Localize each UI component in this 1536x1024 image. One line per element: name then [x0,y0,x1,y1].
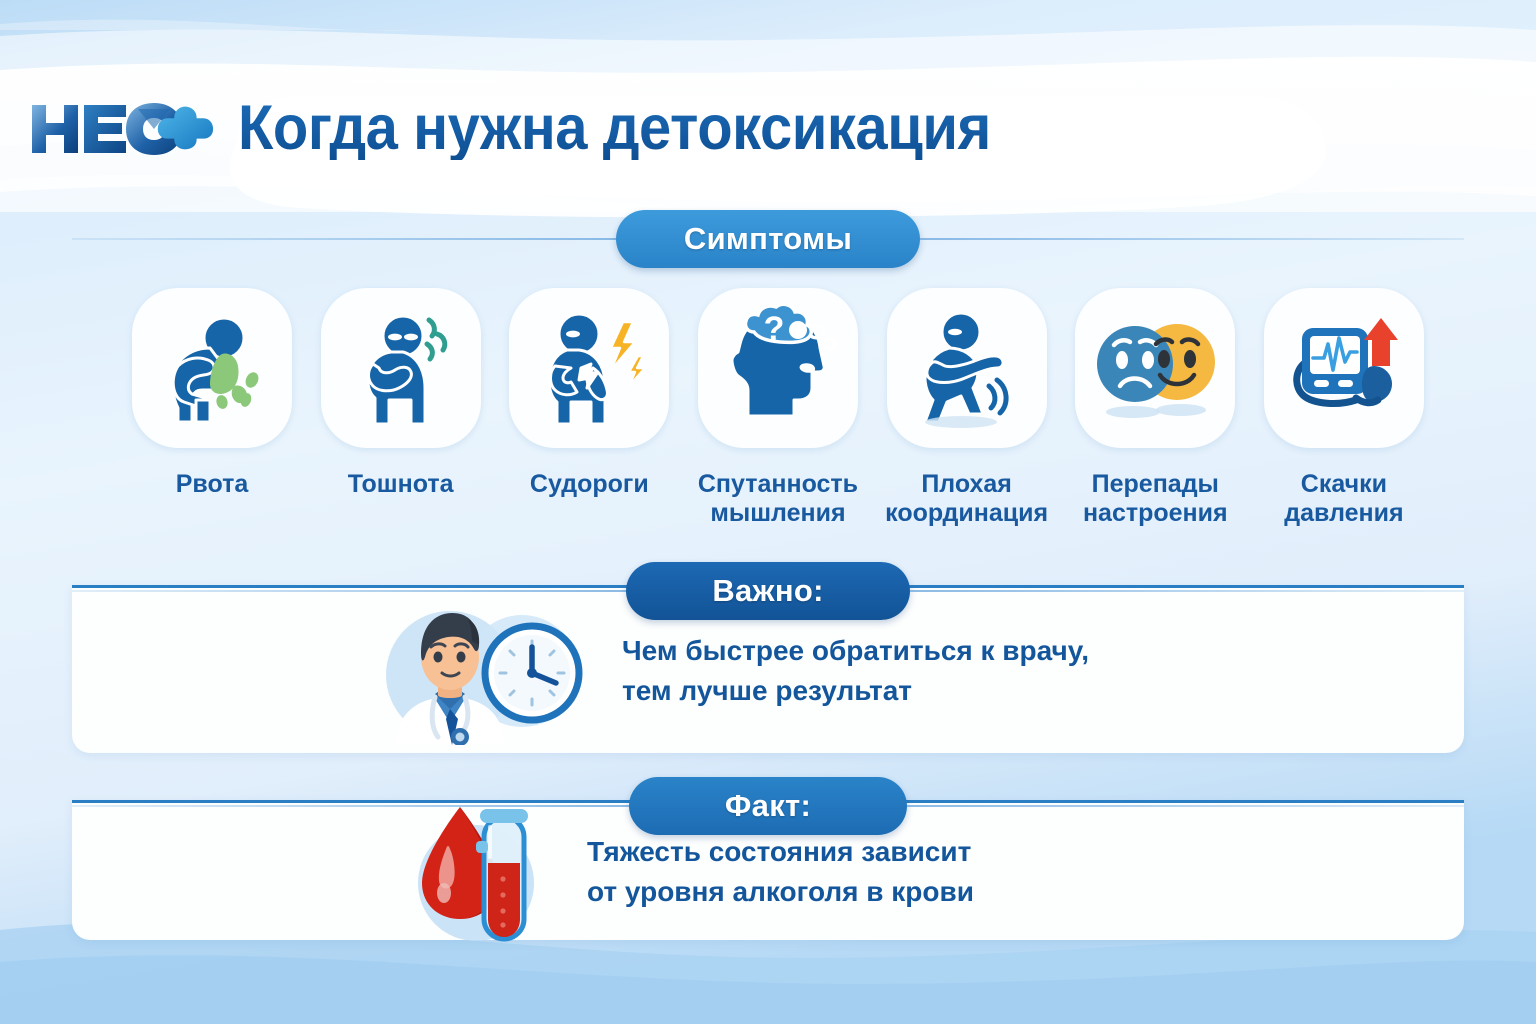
confused-head-icon: ? [714,304,842,432]
cramps-lightning-icon [525,304,653,432]
badge-symptoms[interactable]: Симптомы [616,210,920,268]
symptom-item[interactable]: Скачки давления [1260,288,1428,527]
symptom-label: Тошнота [348,470,454,499]
symptom-item[interactable]: Плохая координация [883,288,1051,527]
important-section-header: Важно: [72,562,1464,620]
symptom-icon-card [132,288,292,448]
symptom-icon-card [1264,288,1424,448]
badge-important[interactable]: Важно: [626,562,909,620]
symptom-label: Рвота [176,470,249,499]
symptom-icon-card [321,288,481,448]
symptom-icon-card: ? [698,288,858,448]
page-header: Когда нужна детоксикация [0,86,1536,170]
symptom-item[interactable]: ? Спутанность мышления [694,288,862,527]
symptom-label: Судороги [530,470,649,499]
symptom-label: Скачки давления [1284,470,1403,527]
mood-swings-faces-icon [1091,304,1219,432]
symptom-label: Плохая координация [885,470,1048,527]
vomiting-person-icon [148,304,276,432]
divider-left [72,238,616,240]
svg-text:?: ? [764,310,785,348]
infographic-canvas: Когда нужна детоксикация Симптомы [0,0,1536,1024]
divider-left [72,590,626,592]
blood-pressure-monitor-icon [1280,304,1408,432]
poor-coordination-icon [903,304,1031,432]
symptom-item[interactable]: Перепады настроения [1071,288,1239,527]
symptoms-grid: Рвота [128,288,1428,527]
symptom-icon-card [509,288,669,448]
nausea-person-icon [337,304,465,432]
divider-right [910,590,1464,592]
symptom-label: Перепады настроения [1083,470,1228,527]
divider-right [920,238,1464,240]
page-title: Когда нужна детоксикация [238,97,991,160]
symptom-item[interactable]: Тошнота [317,288,485,527]
symptom-label: Спутанность мышления [698,470,858,527]
fact-section-header: Факт: [72,777,1464,835]
fact-text: Тяжесть состояния зависит от уровня алко… [587,832,974,912]
important-text: Чем быстрее обратиться к врачу, тем лучш… [622,631,1089,711]
neo-plus-logo [30,98,226,158]
symptom-icon-card [887,288,1047,448]
symptoms-section-header: Симптомы [72,210,1464,268]
symptom-icon-card [1075,288,1235,448]
divider-left [72,805,629,807]
badge-fact[interactable]: Факт: [629,777,907,835]
divider-right [907,805,1464,807]
symptom-item[interactable]: Судороги [505,288,673,527]
symptom-item[interactable]: Рвота [128,288,296,527]
